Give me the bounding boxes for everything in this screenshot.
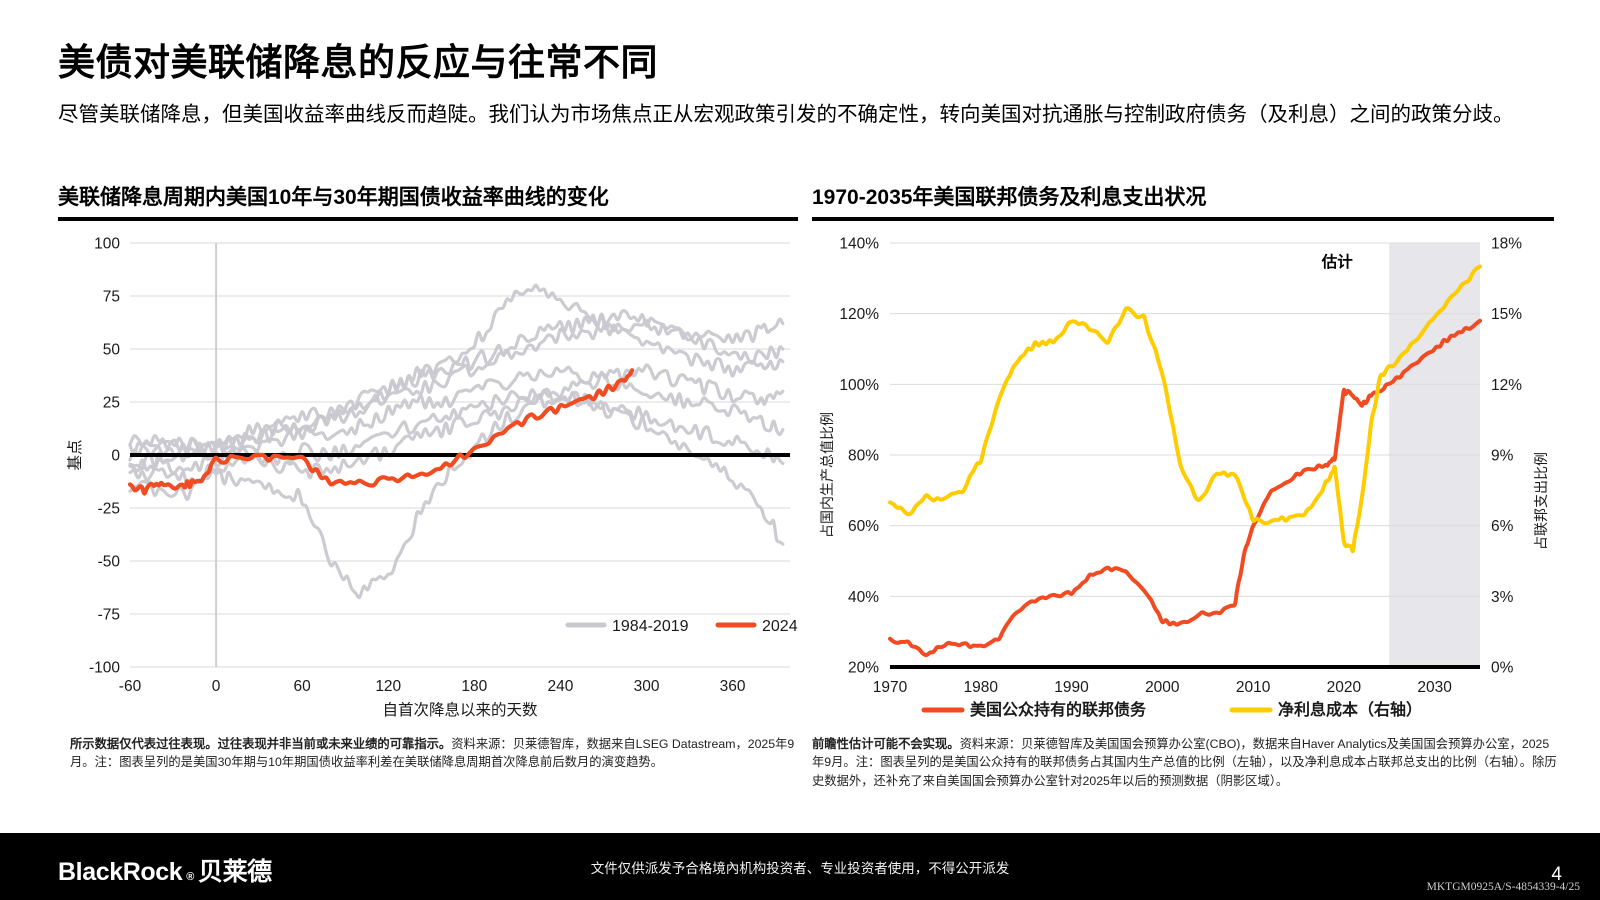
right-chart-title: 1970-2035年美国联邦债务及利息支出状况 [812, 185, 1554, 217]
slide-root: 美债对美联储降息的反应与往常不同 尽管美联储降息，但美国收益率曲线反而趋陡。我们… [0, 0, 1600, 900]
svg-text:-50: -50 [98, 554, 121, 571]
svg-text:1984-2019: 1984-2019 [612, 618, 689, 635]
svg-text:0%: 0% [1491, 660, 1514, 677]
svg-text:15%: 15% [1491, 306, 1522, 323]
svg-text:2024: 2024 [762, 618, 798, 635]
svg-text:50: 50 [103, 342, 121, 359]
svg-text:净利息成本（右轴）: 净利息成本（右轴） [1278, 700, 1422, 719]
svg-text:40%: 40% [848, 589, 879, 606]
svg-text:25: 25 [103, 395, 120, 412]
x-axis-label: 自首次降息以来的天数 [382, 701, 538, 719]
footer-bar: BlackRock® 贝莱德 文件仅供派发予合格境內机构投资者、专业投资者使用，… [0, 833, 1600, 900]
svg-text:3%: 3% [1491, 589, 1514, 606]
right-footnote: 前瞻性估计可能不会实现。资料来源：贝莱德智库及美国国会预算办公室(CBO)，数据… [812, 735, 1560, 790]
page-title: 美债对美联储降息的反应与往常不同 [58, 42, 1558, 85]
svg-text:80%: 80% [848, 448, 879, 465]
left-y-axis-label: 占国内生产总值比例 [819, 412, 835, 538]
svg-text:60%: 60% [848, 518, 879, 535]
svg-text:60: 60 [294, 678, 312, 695]
svg-text:100: 100 [94, 236, 120, 253]
footer-disclaimer: 文件仅供派发予合格境內机构投资者、专业投资者使用，不得公开派发 [0, 833, 1600, 900]
left-footnote-bold: 所示数据仅代表过往表现。过往表现并非当前或未来业绩的可靠指示。 [70, 737, 451, 751]
svg-text:2000: 2000 [1145, 679, 1180, 696]
left-chart-legend: 1984-20192024 [568, 618, 798, 635]
svg-text:-75: -75 [98, 607, 120, 624]
svg-text:300: 300 [634, 678, 660, 695]
svg-text:0: 0 [111, 448, 120, 465]
svg-text:9%: 9% [1491, 448, 1514, 465]
svg-text:20%: 20% [848, 660, 879, 677]
right-footnote-bold: 前瞻性估计可能不会实现。 [812, 737, 960, 751]
svg-text:1990: 1990 [1054, 679, 1089, 696]
svg-text:2020: 2020 [1327, 679, 1362, 696]
svg-text:2030: 2030 [1417, 679, 1452, 696]
left-chart-title: 美联储降息周期内美国10年与30年期国债收益率曲线的变化 [58, 185, 798, 217]
svg-text:2010: 2010 [1236, 679, 1271, 696]
svg-text:120%: 120% [839, 306, 879, 323]
svg-text:1980: 1980 [964, 679, 999, 696]
right-chart-legend: 美国公众持有的联邦债务净利息成本（右轴） [924, 700, 1422, 719]
federal-debt-chart: 20%40%60%80%100%120%140%0%3%6%9%12%15%18… [812, 229, 1554, 729]
svg-text:6%: 6% [1491, 518, 1514, 535]
yield-curve-chart: -100-75-50-250255075100-6006012018024030… [58, 229, 798, 729]
page-number: 4 [1551, 864, 1562, 886]
svg-text:-25: -25 [98, 501, 120, 518]
svg-text:美国公众持有的联邦债务: 美国公众持有的联邦债务 [970, 700, 1147, 719]
svg-text:18%: 18% [1491, 236, 1522, 253]
page-subtitle: 尽管美联储降息，但美国收益率曲线反而趋陡。我们认为市场焦点正从宏观政策引发的不确… [58, 100, 1533, 130]
left-footnote: 所示数据仅代表过往表现。过往表现并非当前或未来业绩的可靠指示。资料来源：贝莱德智… [70, 735, 805, 772]
right-chart-panel: 1970-2035年美国联邦债务及利息支出状况 20%40%60%80%100%… [812, 185, 1554, 825]
svg-text:1970: 1970 [873, 679, 908, 696]
svg-text:240: 240 [547, 678, 573, 695]
svg-text:-100: -100 [89, 660, 120, 677]
svg-text:360: 360 [720, 678, 746, 695]
svg-text:120: 120 [375, 678, 401, 695]
right-chart-area: 20%40%60%80%100%120%140%0%3%6%9%12%15%18… [812, 229, 1554, 729]
svg-text:0: 0 [212, 678, 221, 695]
svg-text:100%: 100% [839, 377, 879, 394]
left-title-rule [58, 217, 798, 221]
right-y-axis-label: 占联邦支出比例 [1533, 452, 1549, 550]
y-axis-label: 基点 [66, 440, 84, 471]
svg-text:180: 180 [461, 678, 487, 695]
svg-text:140%: 140% [839, 236, 879, 253]
svg-text:-60: -60 [119, 678, 142, 695]
left-chart-area: -100-75-50-250255075100-6006012018024030… [58, 229, 798, 729]
estimate-label: 估计 [1321, 252, 1354, 271]
left-chart-panel: 美联储降息周期内美国10年与30年期国债收益率曲线的变化 -100-75-50-… [58, 185, 798, 825]
right-title-rule [812, 217, 1554, 221]
svg-text:12%: 12% [1491, 377, 1522, 394]
svg-text:75: 75 [103, 289, 120, 306]
